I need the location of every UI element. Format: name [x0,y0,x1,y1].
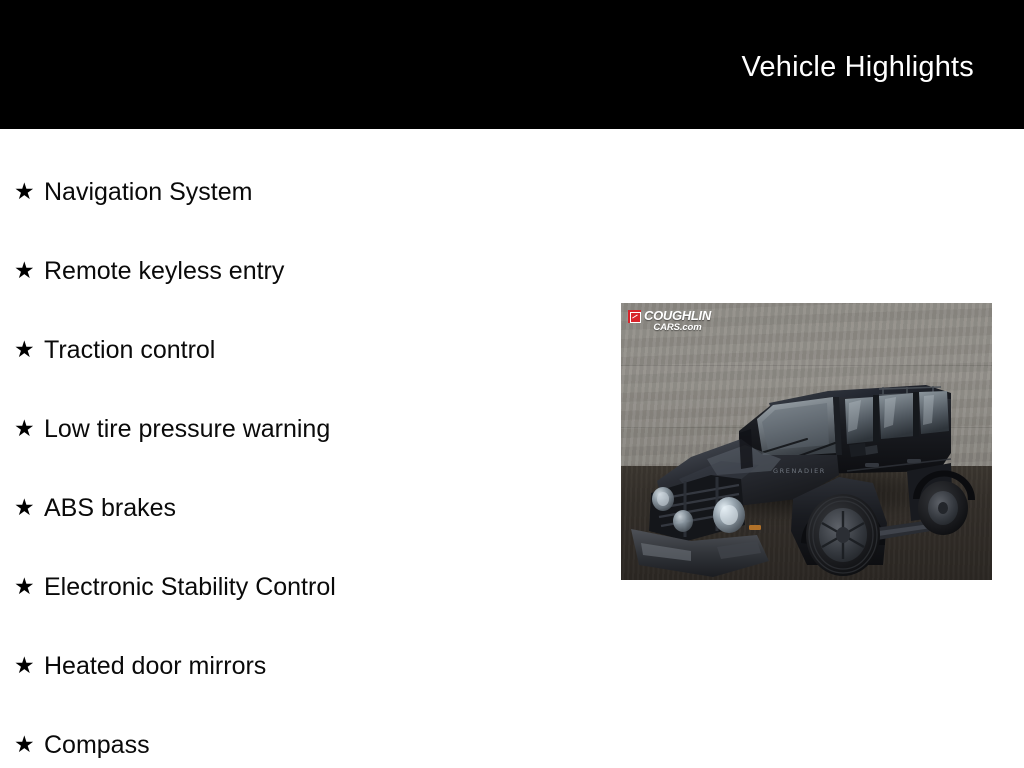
list-item: ★ ABS brakes [0,468,620,547]
coughlin-square-logo-icon [628,310,641,323]
highlight-label: Electronic Stability Control [44,572,336,602]
dealer-watermark: COUGHLIN CARS.com [628,309,711,333]
svg-text:GRENADIER: GRENADIER [773,467,826,475]
highlight-label: Traction control [44,335,215,365]
star-icon: ★ [14,259,44,282]
highlight-label: Compass [44,730,150,760]
rear-wheel [918,481,968,535]
list-item: ★ Electronic Stability Control [0,547,620,626]
highlight-label: Low tire pressure warning [44,414,330,444]
list-item: ★ Heated door mirrors [0,626,620,705]
star-icon: ★ [14,733,44,756]
watermark-brand: COUGHLIN [644,309,711,322]
list-item: ★ Remote keyless entry [0,231,620,310]
highlight-label: ABS brakes [44,493,176,523]
vehicle-photo: GRENADIER [621,303,992,580]
watermark-text: COUGHLIN CARS.com [644,309,711,333]
star-icon: ★ [14,575,44,598]
list-item: ★ Compass [0,705,620,768]
highlight-label: Remote keyless entry [44,256,284,286]
page-title: Vehicle Highlights [741,50,974,84]
list-item: ★ Low tire pressure warning [0,389,620,468]
highlight-label: Heated door mirrors [44,651,266,681]
star-icon: ★ [14,654,44,677]
highlight-label: Navigation System [44,177,252,207]
front-wheel [806,494,880,576]
slide-header-bar: Vehicle Highlights [0,0,1024,129]
vehicle-highlights-list: ★ Navigation System ★ Remote keyless ent… [0,129,620,768]
vehicle-highlights-slide: Vehicle Highlights ★ Navigation System ★… [0,0,1024,768]
star-icon: ★ [14,180,44,203]
suv-illustration: GRENADIER [621,303,992,580]
list-item: ★ Traction control [0,310,620,389]
watermark-domain: CARS.com [644,323,711,333]
list-item: ★ Navigation System [0,152,620,231]
star-icon: ★ [14,496,44,519]
star-icon: ★ [14,338,44,361]
star-icon: ★ [14,417,44,440]
